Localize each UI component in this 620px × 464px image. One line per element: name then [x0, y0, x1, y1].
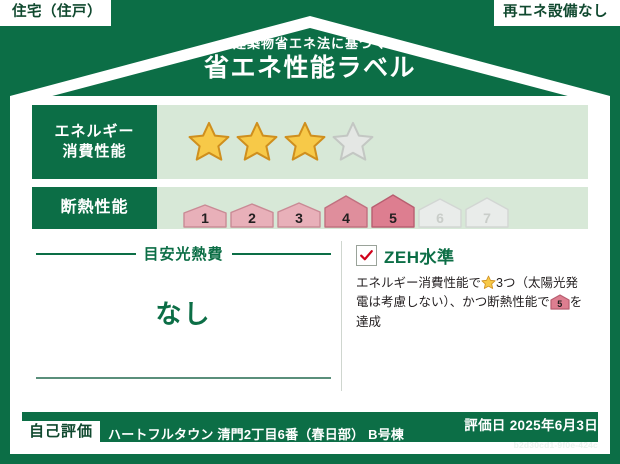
zeh-checkbox	[356, 245, 377, 266]
insulation-badge-inline-value: 5	[550, 300, 570, 309]
energy-performance-value	[157, 105, 588, 179]
insulation-grade-6: 6	[418, 198, 462, 228]
estimated-cost-title: 目安光熱費	[144, 243, 224, 264]
insulation-grade-3-value: 3	[277, 211, 321, 225]
insulation-grade-1: 1	[183, 204, 227, 228]
zeh-desc-part2: は考慮しない）、かつ断熱性能で	[369, 295, 550, 309]
insulation-badge-inline: 5	[550, 294, 570, 310]
insulation-grade-scale: 1 2 3 4	[183, 194, 509, 229]
tag-building-type: 住宅（住戸）	[0, 0, 111, 26]
lower-section: 目安光熱費 なし ZEH水準 エネルギー消費性能で3つ（太陽光発電は考慮しない）…	[36, 241, 584, 391]
energy-label-line2: 消費性能	[62, 142, 126, 162]
property-name: ハートフルタウン 清門2丁目6番（春日部） B号棟	[108, 424, 404, 443]
label-title: 建築物省エネ法に基づく 省エネ性能ラベル	[0, 37, 620, 83]
evaluation-date: 評価日 2025年6月3日	[464, 418, 598, 433]
insulation-grade-4: 4	[324, 195, 368, 228]
energy-label-line1: エネルギー	[54, 122, 134, 142]
title-subtitle: 建築物省エネ法に基づく	[0, 37, 620, 51]
cost-rule-left	[36, 253, 136, 255]
insulation-grade-4-value: 4	[324, 211, 368, 225]
insulation-grade-7-value: 7	[465, 211, 509, 225]
check-icon	[359, 248, 374, 263]
zeh-panel: ZEH水準 エネルギー消費性能で3つ（太陽光発電は考慮しない）、かつ断熱性能で5…	[341, 241, 584, 391]
zeh-description: エネルギー消費性能で3つ（太陽光発電は考慮しない）、かつ断熱性能で5を達成	[356, 274, 584, 332]
star-icon	[187, 120, 231, 164]
insulation-grade-5-value: 5	[371, 211, 415, 225]
zeh-title: ZEH水準	[384, 243, 455, 268]
insulation-grade-1-value: 1	[183, 211, 227, 225]
energy-performance-label: エネルギー 消費性能	[32, 105, 157, 179]
star-icon	[235, 120, 279, 164]
estimated-cost-value: なし	[36, 294, 331, 331]
zeh-desc-part1: エネルギー消費性能で	[356, 276, 481, 290]
star-icon-inline	[481, 275, 496, 290]
insulation-performance-value: 1 2 3 4	[157, 187, 588, 229]
row-energy-performance: エネルギー 消費性能	[32, 105, 588, 179]
label-card: エネルギー 消費性能 断熱性能 1	[22, 96, 598, 412]
insulation-grade-5: 5	[371, 194, 415, 228]
cost-bottom-divider	[36, 377, 331, 379]
row-insulation-performance: 断熱性能 1 2 3	[32, 187, 588, 229]
estimated-cost-heading: 目安光熱費	[36, 243, 331, 264]
insulation-grade-6-value: 6	[418, 211, 462, 225]
star-icon	[283, 120, 327, 164]
label-footer: 自己評価 ハートフルタウン 清門2丁目6番（春日部） B号棟 評価日 2025年…	[22, 416, 598, 450]
title-main: 省エネ性能ラベル	[0, 55, 620, 83]
footer-right-block: 評価日 2025年6月3日 b2d30cd1-9f0e-424c	[404, 414, 598, 453]
tag-renewable-equipment: 再エネ設備なし	[494, 0, 620, 26]
insulation-grade-3: 3	[277, 202, 321, 228]
self-evaluation-badge: 自己評価	[22, 421, 100, 445]
insulation-performance-label: 断熱性能	[32, 187, 157, 229]
zeh-heading: ZEH水準	[356, 243, 584, 268]
evaluation-id: b2d30cd1-9f0e-424c	[514, 440, 598, 450]
insulation-grade-7: 7	[465, 197, 509, 228]
energy-performance-label: 住宅（住戸） 再エネ設備なし 建築物省エネ法に基づく 省エネ性能ラベル エネルギ…	[0, 0, 620, 464]
star-icon-empty	[331, 120, 375, 164]
star-rating	[187, 120, 375, 164]
estimated-cost-panel: 目安光熱費 なし	[36, 241, 341, 391]
insulation-grade-2-value: 2	[230, 211, 274, 225]
cost-rule-right	[232, 253, 332, 255]
insulation-grade-2: 2	[230, 203, 274, 228]
